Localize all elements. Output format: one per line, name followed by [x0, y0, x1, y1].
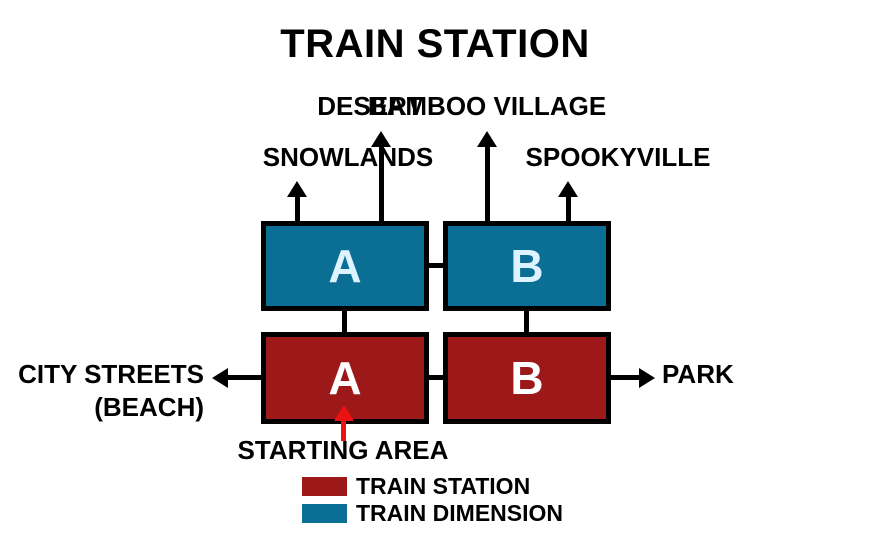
node-red-b[interactable]: B — [443, 332, 611, 424]
connector-snowlands-stem — [295, 196, 300, 224]
legend-label-train-dimension: TRAIN DIMENSION — [356, 500, 563, 527]
exit-label-park: PARK — [662, 360, 734, 388]
node-blue-b-label: B — [510, 243, 543, 289]
arrow-desert-icon — [371, 131, 391, 147]
exit-label-snowlands: SNOWLANDS — [208, 143, 488, 171]
node-blue-a[interactable]: A — [261, 221, 429, 311]
page-title: TRAIN STATION — [0, 22, 870, 67]
connector-desert-stem — [379, 147, 384, 224]
arrow-snowlands-icon — [287, 181, 307, 197]
exit-label-city-streets-line2: (BEACH) — [0, 393, 204, 421]
arrow-starting-area-icon — [334, 405, 354, 421]
legend-item-train-station: TRAIN STATION — [302, 474, 563, 498]
arrow-bamboo-village-icon — [477, 131, 497, 147]
arrow-spookyville-icon — [558, 181, 578, 197]
exit-label-spookyville: SPOOKYVILLE — [478, 143, 758, 171]
connector-city-streets-stem — [222, 375, 262, 380]
legend-label-train-station: TRAIN STATION — [356, 473, 530, 500]
node-blue-b[interactable]: B — [443, 221, 611, 311]
legend: TRAIN STATION TRAIN DIMENSION — [302, 474, 563, 528]
arrow-park-icon — [639, 368, 655, 388]
exit-label-bamboo-village: BAMBOO VILLAGE — [347, 92, 627, 120]
connector-bamboo-village-stem — [485, 147, 490, 224]
connector-spookyville-stem — [566, 196, 571, 224]
node-red-b-label: B — [510, 355, 543, 401]
arrow-city-streets-icon — [212, 368, 228, 388]
annotation-starting-area: STARTING AREA — [223, 436, 463, 464]
node-red-a-label: A — [328, 355, 361, 401]
legend-swatch-train-station — [302, 477, 347, 496]
legend-swatch-train-dimension — [302, 504, 347, 523]
diagram-canvas: TRAIN STATION SNOWLANDS DESERT BAMBOO VI… — [0, 0, 870, 553]
node-blue-a-label: A — [328, 243, 361, 289]
exit-label-city-streets-line1: CITY STREETS — [0, 360, 204, 388]
legend-item-train-dimension: TRAIN DIMENSION — [302, 501, 563, 525]
